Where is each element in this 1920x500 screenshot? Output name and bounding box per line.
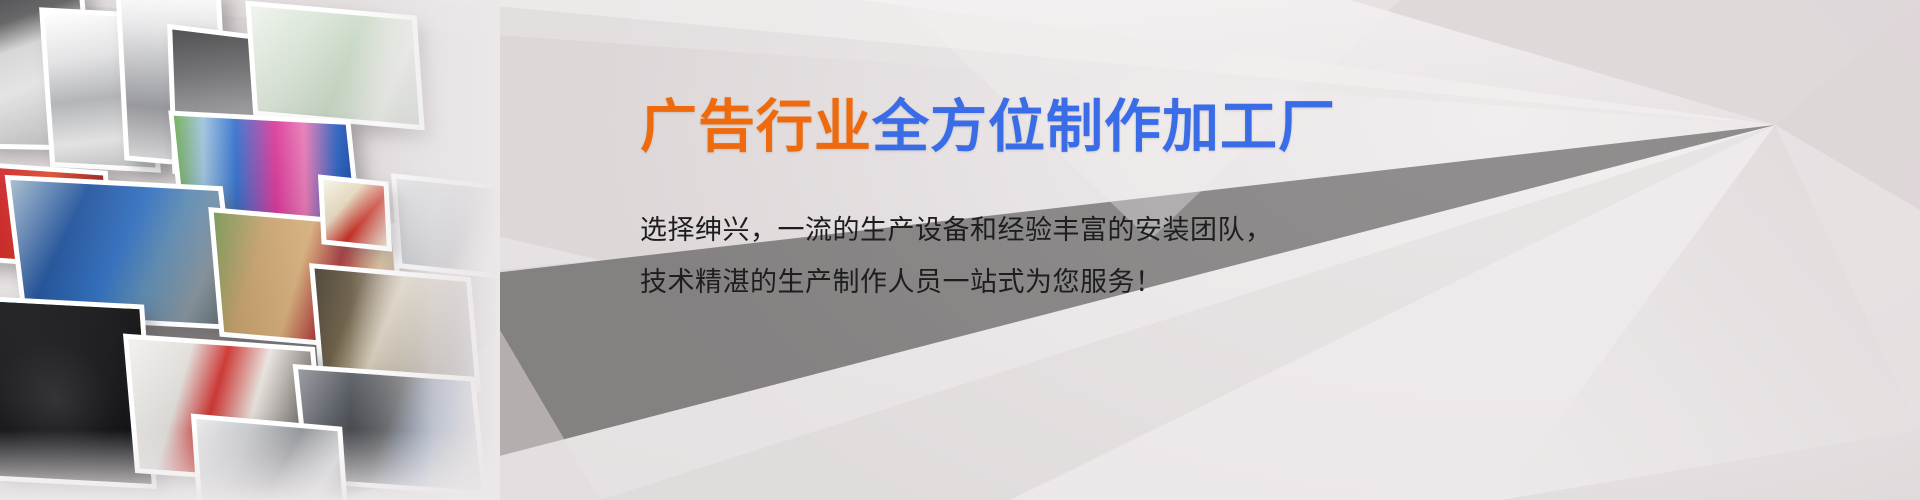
promo-banner: 广告行业全方位制作加工厂 选择绅兴，一流的生产设备和经验丰富的安装团队， 技术精…	[0, 0, 1920, 500]
banner-subtitle: 选择绅兴，一流的生产设备和经验丰富的安装团队， 技术精湛的生产制作人员一站式为您…	[640, 205, 1540, 309]
photo-collage	[0, 0, 500, 500]
subtitle-line-2: 技术精湛的生产制作人员一站式为您服务！	[640, 257, 1540, 309]
headline-part-blue: 全方位制作加工厂	[872, 94, 1336, 160]
headline-part-orange: 广告行业	[640, 94, 872, 160]
banner-headline: 广告行业全方位制作加工厂	[640, 96, 1540, 158]
collage-edge-fade	[350, 0, 500, 500]
subtitle-line-1: 选择绅兴，一流的生产设备和经验丰富的安装团队，	[640, 205, 1540, 257]
banner-text-block: 广告行业全方位制作加工厂 选择绅兴，一流的生产设备和经验丰富的安装团队， 技术精…	[640, 96, 1540, 309]
collage-bottom-fade	[0, 430, 500, 500]
